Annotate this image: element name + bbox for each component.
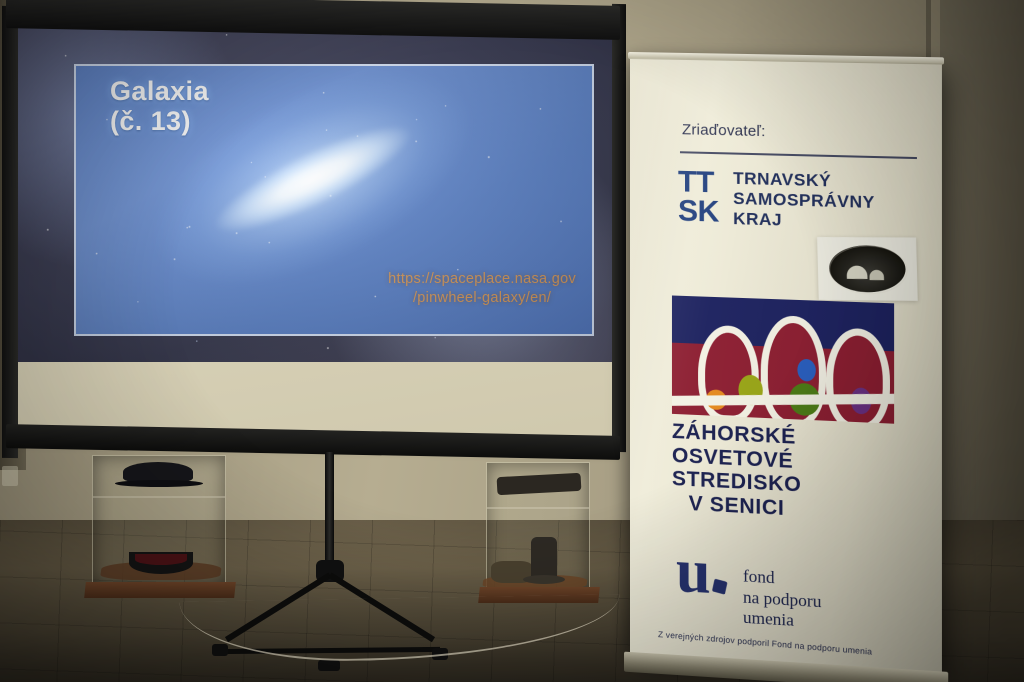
slide-title-line1: Galaxia: [110, 76, 209, 106]
slide-url-line2: /pinwheel-galaxy/en/: [388, 289, 576, 308]
fpu-logo: u fond na podporu umenia: [676, 547, 821, 634]
case-exhibit-hat-brim: [115, 480, 203, 487]
ttsk-monogram-line2: SK: [678, 197, 719, 228]
display-case-left: [92, 455, 226, 587]
slide-title-line2: (č. 13): [110, 106, 209, 136]
organisation-name: ZÁHORSKÉ OSVETOVÉ STREDISKO V SENICI: [672, 420, 801, 521]
case-exhibit-lamp-base: [523, 575, 565, 584]
wall-socket: [2, 466, 18, 486]
slide-source-url: https://spaceplace.nasa.gov /pinwheel-ga…: [388, 270, 576, 308]
screen-right-rail: [612, 4, 626, 452]
fpu-monogram-letter: u: [676, 536, 711, 606]
display-case-right: [486, 462, 590, 592]
ttsk-name-line3: KRAJ: [733, 209, 875, 233]
banner-founder-label: Zriaďovateľ:: [682, 121, 766, 140]
ttsk-logo: TT SK TRNAVSKÝ SAMOSPRÁVNY KRAJ: [678, 167, 875, 233]
projected-slide: Galaxia (č. 13) https://spaceplace.nasa.…: [18, 14, 614, 362]
tripod-pole: [325, 452, 334, 572]
slide-title: Galaxia (č. 13): [110, 76, 209, 136]
case-base-left: [84, 582, 236, 598]
zos-swoosh: [672, 394, 894, 406]
case-shelf: [487, 507, 589, 509]
case-exhibit-red-cloth: [135, 554, 187, 565]
observatory-emblem-icon: [817, 237, 918, 301]
banner-divider: [680, 151, 917, 159]
projection-screen: Galaxia (č. 13) https://spaceplace.nasa.…: [2, 0, 630, 462]
rollup-banner: Zriaďovateľ: TT SK TRNAVSKÝ SAMOSPRÁVNY …: [630, 58, 942, 674]
slide-url-line1: https://spaceplace.nasa.gov: [388, 270, 576, 289]
case-shelf: [93, 496, 225, 498]
tripod-foot-left: [212, 644, 228, 656]
screen-left-rail: [2, 6, 18, 458]
ttsk-wordmark: TRNAVSKÝ SAMOSPRÁVNY KRAJ: [733, 169, 875, 234]
fpu-line3: umenia: [743, 608, 821, 634]
case-exhibit-tools: [497, 473, 582, 495]
emblem-ring: [829, 245, 909, 294]
slide-inner-panel: Galaxia (č. 13) https://spaceplace.nasa.…: [74, 64, 594, 336]
fpu-dot-icon: [712, 579, 728, 595]
wall-right-panel: [940, 0, 1024, 560]
fpu-wordmark: fond na podporu umenia: [743, 566, 821, 633]
ttsk-monogram: TT SK: [678, 167, 719, 227]
fpu-monogram: u: [676, 547, 727, 598]
photo-scene: Galaxia (č. 13) https://spaceplace.nasa.…: [0, 0, 1024, 682]
zos-pictogram-logo: [672, 295, 894, 423]
zos-drop-blue: [797, 359, 815, 382]
tripod-foot-center: [318, 660, 340, 671]
case-exhibit-hat: [123, 462, 193, 482]
ttsk-monogram-line1: TT: [678, 167, 719, 198]
